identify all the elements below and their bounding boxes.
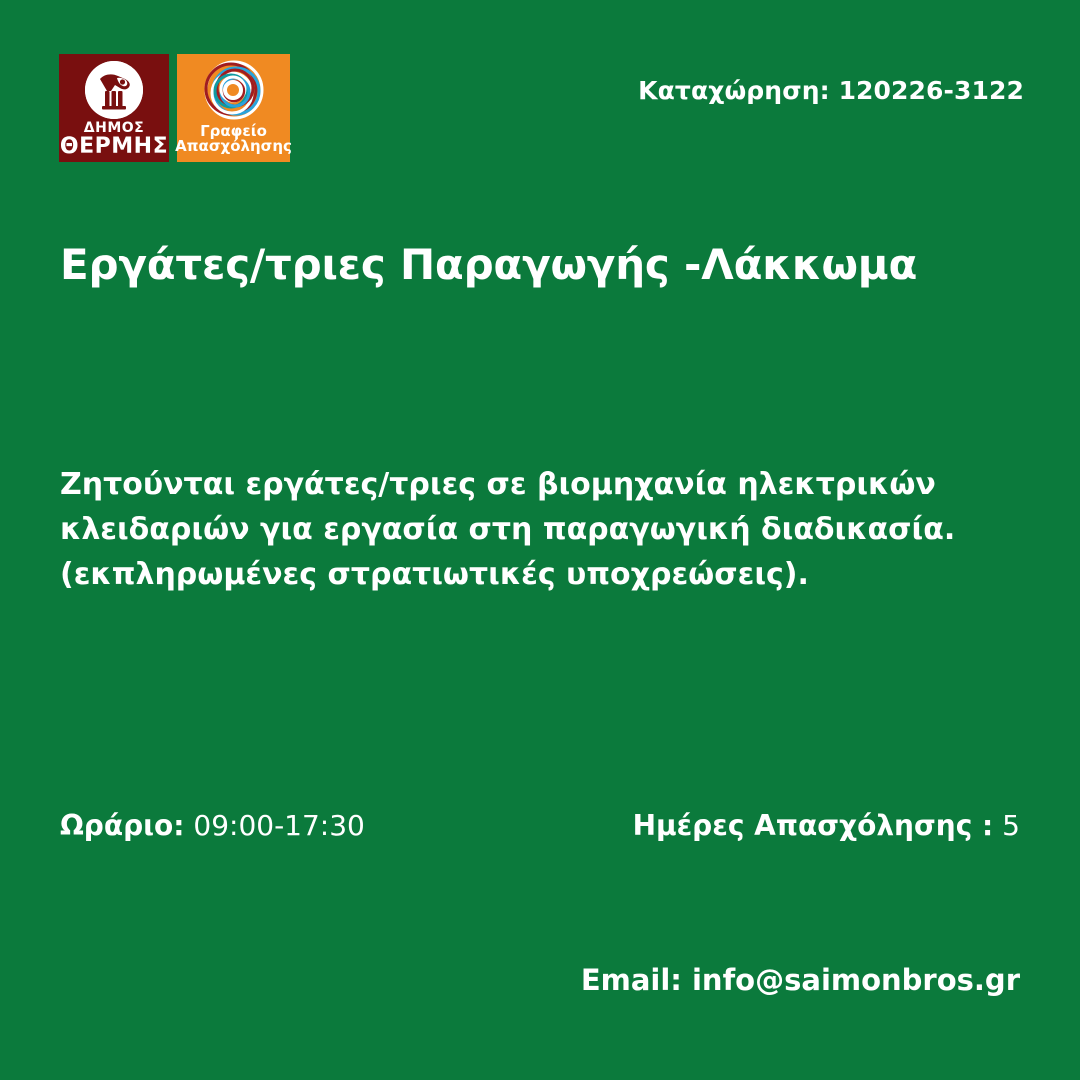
logo-grafeio-apasxolisis: Γραφείο Απασχόλησης — [177, 54, 290, 162]
job-description: Ζητούνται εργάτες/τριες σε βιομηχανία ηλ… — [60, 462, 1000, 597]
logo-dimos-thermis: ΔΗΜΟΣ ΘΕΡΜΗΣ — [59, 54, 169, 162]
work-hours-value: 09:00-17:30 — [193, 809, 365, 842]
job-title: Εργάτες/τριες Παραγωγής -Λάκκωμα — [60, 240, 1020, 290]
work-days: Ημέρες Απασχόλησης : 5 — [633, 808, 1020, 843]
logo-group: ΔΗΜΟΣ ΘΕΡΜΗΣ — [59, 54, 290, 162]
logo-thermi-line1: ΔΗΜΟΣ — [60, 121, 168, 135]
job-posting-poster: ΔΗΜΟΣ ΘΕΡΜΗΣ — [0, 0, 1080, 1080]
job-description-line-3: (εκπληρωμένες στρατιωτικές υποχρεώσεις). — [60, 552, 1000, 597]
work-days-value: 5 — [1002, 809, 1020, 842]
logo-thermi-line2: ΘΕΡΜΗΣ — [60, 136, 168, 158]
poster-header: ΔΗΜΟΣ ΘΕΡΜΗΣ — [59, 54, 1024, 162]
job-description-line-2: κλειδαριών για εργασία στη παραγωγική δι… — [60, 507, 1000, 552]
ancient-column-capital-icon — [85, 61, 143, 119]
logo-grafeio-wordmark: Γραφείο Απασχόλησης — [175, 124, 292, 155]
logo-grafeio-line2: Απασχόλησης — [175, 139, 292, 154]
concentric-rings-icon — [200, 59, 268, 123]
work-hours-label: Ωράριο: — [60, 809, 184, 842]
contact-email[interactable]: Email: info@saimonbros.gr — [581, 963, 1020, 997]
logo-dimos-thermis-wordmark: ΔΗΜΟΣ ΘΕΡΜΗΣ — [60, 121, 168, 158]
work-hours: Ωράριο: 09:00-17:30 — [60, 808, 365, 843]
registration-number: Καταχώρηση: 120226-3122 — [638, 76, 1024, 105]
job-details-row: Ωράριο: 09:00-17:30 Ημέρες Απασχόλησης :… — [60, 808, 1020, 854]
job-description-line-1: Ζητούνται εργάτες/τριες σε βιομηχανία ηλ… — [60, 462, 1000, 507]
work-days-label: Ημέρες Απασχόλησης : — [633, 809, 994, 842]
